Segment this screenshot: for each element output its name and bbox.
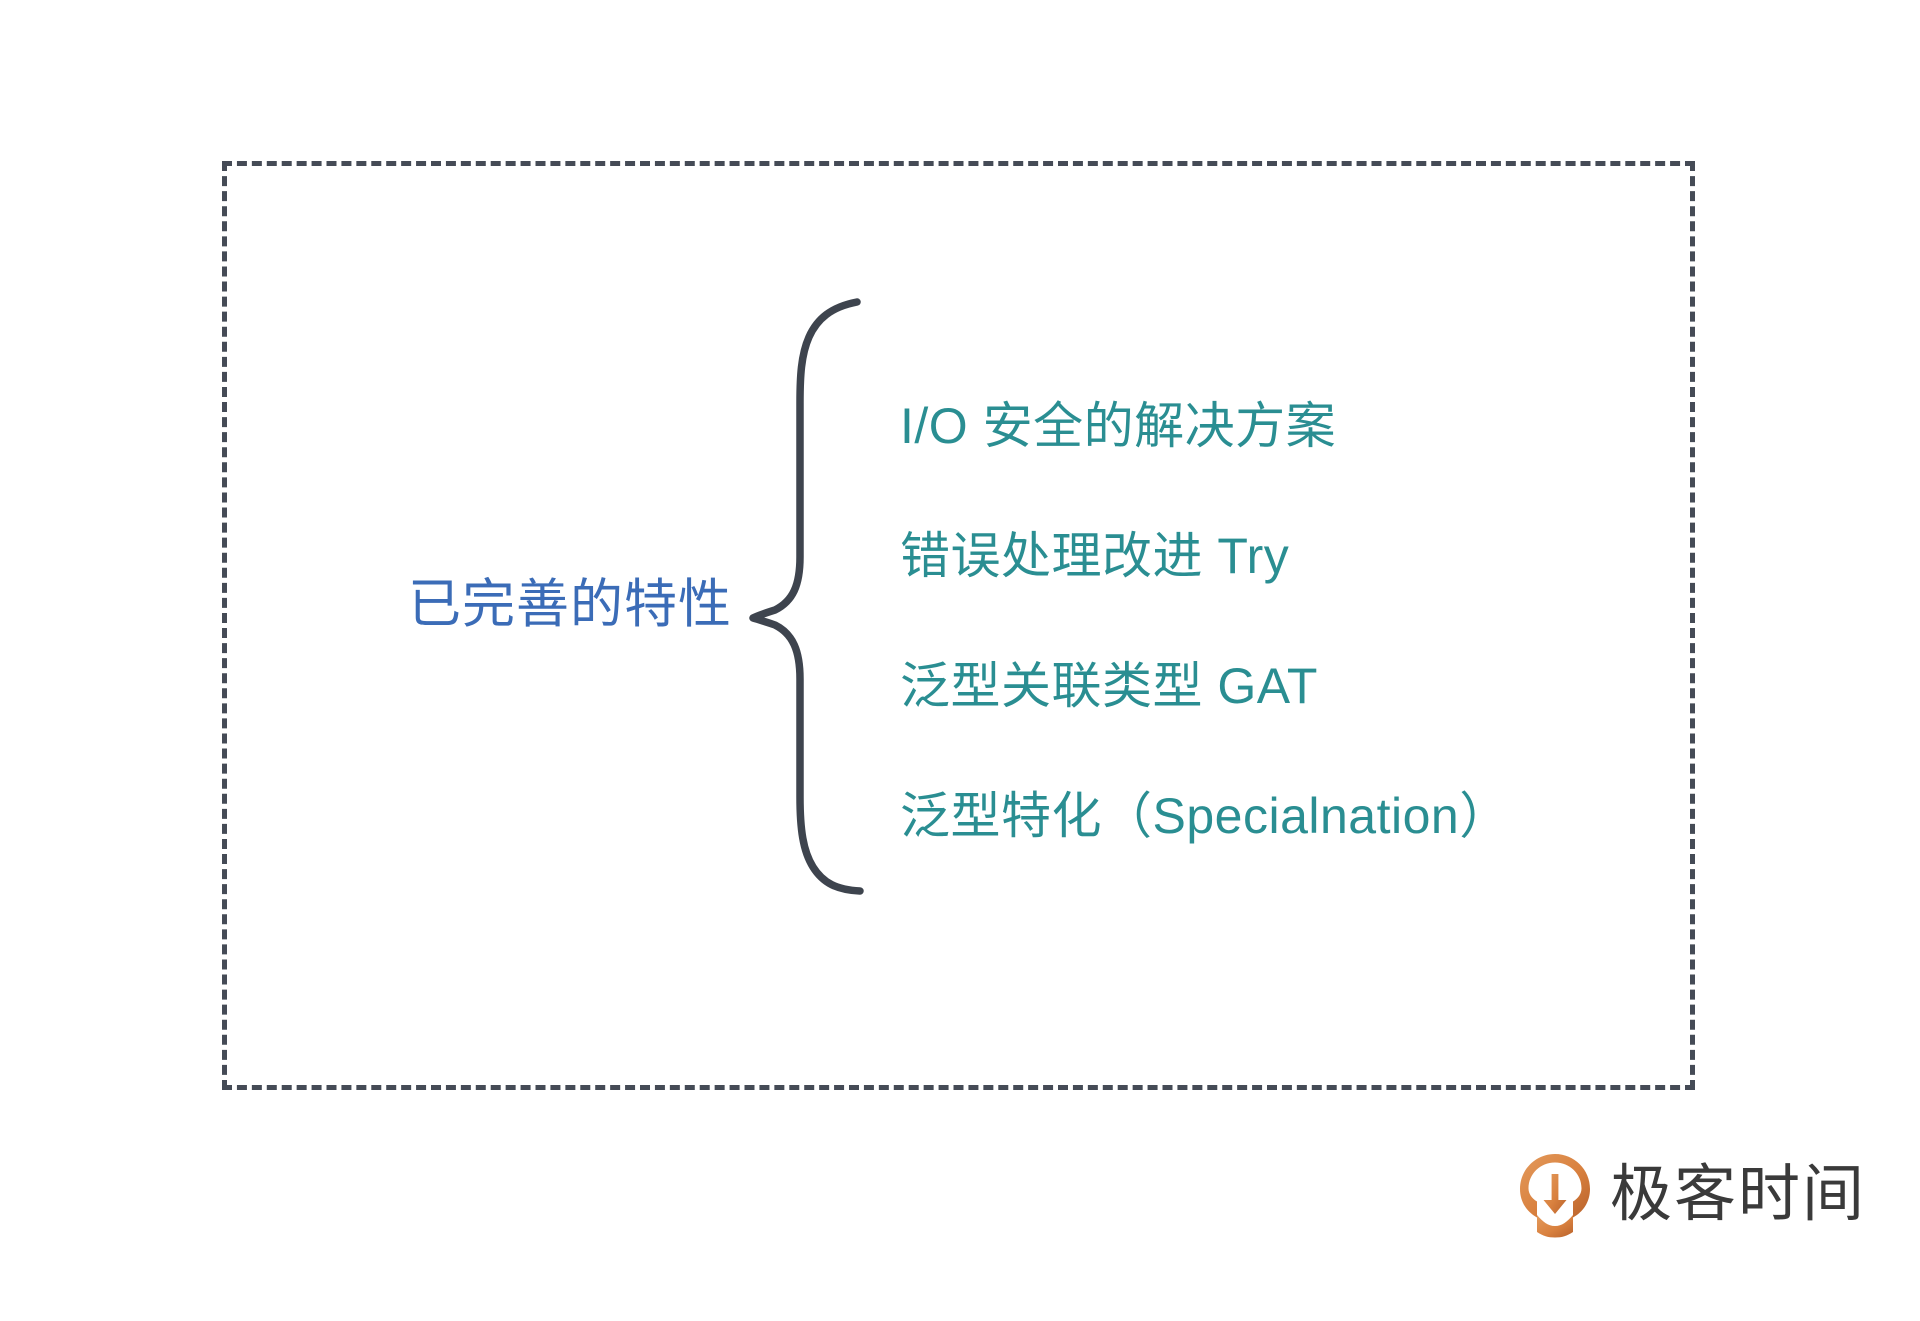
brand-wordmark: 极客时间	[1610, 1164, 1866, 1226]
brace-diagram: 已完善的特性 I/O 安全的解决方案 错误处理改进 Try 泛型关联类型 GAT…	[0, 0, 1920, 1321]
brand-logo: 极客时间	[1518, 1152, 1866, 1238]
diagram-root-label: 已完善的特性	[408, 578, 732, 631]
branch-item: 错误处理改进 Try	[900, 528, 1660, 658]
branch-item: I/O 安全的解决方案	[900, 398, 1660, 528]
geektime-logo-icon	[1518, 1152, 1592, 1238]
branch-list: I/O 安全的解决方案 错误处理改进 Try 泛型关联类型 GAT 泛型特化（S…	[900, 398, 1660, 918]
branch-item: 泛型特化（Specialnation）	[900, 788, 1660, 918]
left-curly-brace-icon	[745, 285, 880, 910]
branch-item: 泛型关联类型 GAT	[900, 658, 1660, 788]
